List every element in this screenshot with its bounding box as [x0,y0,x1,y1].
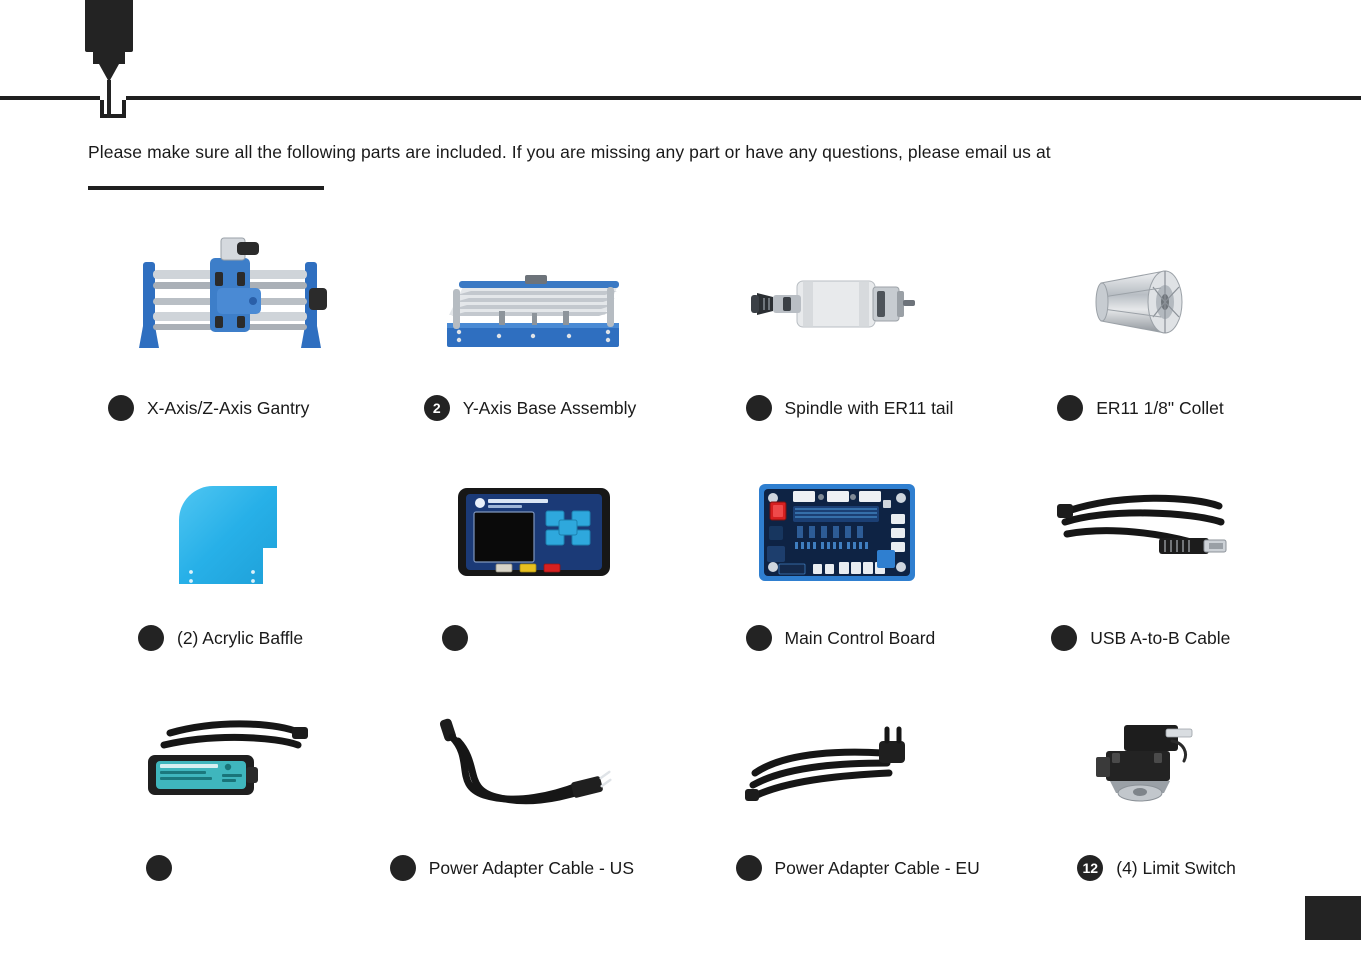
part-bullet [138,625,164,651]
part-image-gantry [78,222,382,382]
page-corner-tab [1305,896,1361,940]
part-image-spindle [686,222,990,382]
part-label: X-Axis/Z-Axis Gantry [147,398,309,419]
part-cell-spindle: Spindle with ER11 tail [686,222,990,452]
part-label: Spindle with ER11 tail [785,398,954,419]
part-caption-acrylic-baffle: (2) Acrylic Baffle [78,618,382,658]
part-bullet: 2 [424,395,450,421]
part-bullet [746,395,772,421]
part-caption-gantry: X-Axis/Z-Axis Gantry [78,388,382,428]
part-caption-collet: ER11 1/8" Collet [989,388,1293,428]
part-caption-y-axis-base: 2 Y-Axis Base Assembly [382,388,686,428]
workpiece-surface-line [0,96,1361,100]
part-cell-limit-switch: 12 (4) Limit Switch [989,682,1293,912]
part-image-offline-controller [382,452,686,612]
part-label: (2) Acrylic Baffle [177,628,303,649]
part-caption-power-cable-us: Power Adapter Cable - US [382,848,686,888]
part-image-limit-switch [989,682,1293,842]
engraving-bit-tip-icon [107,80,111,118]
part-cell-offline-controller [382,452,686,682]
part-cell-y-axis-base: 2 Y-Axis Base Assembly [382,222,686,452]
part-image-usb-cable [989,452,1293,612]
part-cell-gantry: X-Axis/Z-Axis Gantry [78,222,382,452]
engraving-bit-body-icon [85,0,133,52]
part-label: Main Control Board [785,628,936,649]
engraving-bit-step-icon [93,52,125,64]
groove-opening-mask [100,94,126,100]
header-decoration [0,0,1361,118]
part-cell-collet: ER11 1/8" Collet [989,222,1293,452]
part-cell-power-cable-us: Power Adapter Cable - US [382,682,686,912]
part-image-main-control-board [686,452,990,612]
part-image-power-cable-eu [686,682,990,842]
part-caption-power-cable-eu: Power Adapter Cable - EU [686,848,990,888]
part-bullet [746,625,772,651]
part-image-acrylic-baffle [78,452,382,612]
part-bullet [1057,395,1083,421]
part-image-collet [989,222,1293,382]
part-caption-offline-controller [382,618,686,658]
part-bullet [1051,625,1077,651]
redacted-email-bar [88,186,324,190]
part-bullet [390,855,416,881]
part-cell-main-control-board: Main Control Board [686,452,990,682]
part-caption-main-control-board: Main Control Board [686,618,990,658]
part-cell-power-supply [78,682,382,912]
part-bullet [442,625,468,651]
part-bullet: 12 [1077,855,1103,881]
part-caption-power-supply [78,848,382,888]
part-label: (4) Limit Switch [1116,858,1236,879]
intro-paragraph: Please make sure all the following parts… [88,140,1268,164]
part-bullet [736,855,762,881]
part-image-power-cable-us [382,682,686,842]
parts-grid: X-Axis/Z-Axis Gantry [78,222,1293,912]
part-cell-power-cable-eu: Power Adapter Cable - EU [686,682,990,912]
part-bullet [146,855,172,881]
part-label: Power Adapter Cable - US [429,858,634,879]
part-image-y-axis-base [382,222,686,382]
part-label: Y-Axis Base Assembly [463,398,636,419]
part-image-power-supply [78,682,382,842]
part-label: ER11 1/8" Collet [1096,398,1223,419]
part-caption-limit-switch: 12 (4) Limit Switch [989,848,1293,888]
part-cell-acrylic-baffle: (2) Acrylic Baffle [78,452,382,682]
part-caption-spindle: Spindle with ER11 tail [686,388,990,428]
part-label: Power Adapter Cable - EU [775,858,980,879]
part-caption-usb-cable: USB A-to-B Cable [989,618,1293,658]
part-bullet [108,395,134,421]
part-label: USB A-to-B Cable [1090,628,1230,649]
part-cell-usb-cable: USB A-to-B Cable [989,452,1293,682]
